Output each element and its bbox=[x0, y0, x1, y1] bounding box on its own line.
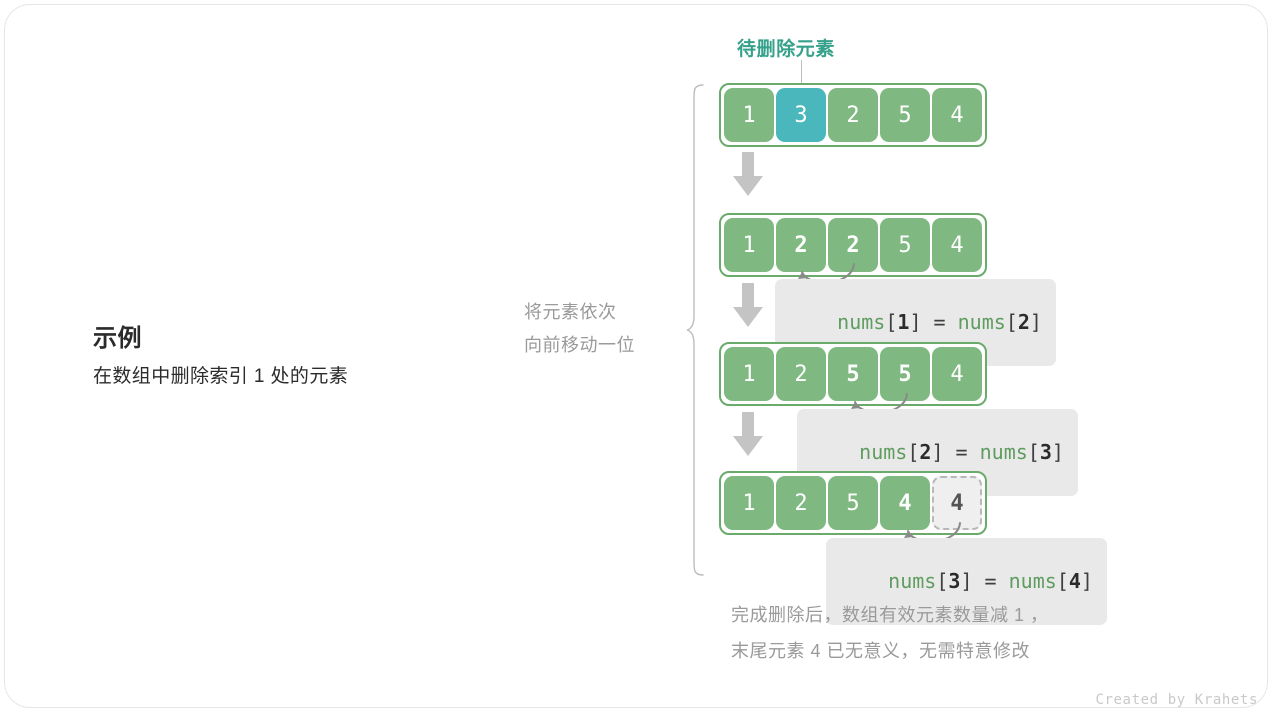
down-arrow-icon-3 bbox=[733, 412, 763, 456]
code-rbracket: ] bbox=[931, 440, 943, 464]
code-lbracket: [ bbox=[1028, 440, 1040, 464]
code-equals: = bbox=[956, 440, 968, 464]
code-lbracket: [ bbox=[885, 310, 897, 334]
code-lbracket: [ bbox=[1057, 569, 1069, 593]
result-caption-line2: 末尾元素 4 已无意义，无需特意修改 bbox=[731, 633, 1201, 669]
array-cell[interactable]: 4 bbox=[932, 88, 982, 142]
array-cell[interactable]: 5 bbox=[880, 88, 930, 142]
result-caption-line1: 完成删除后，数组有效元素数量减 1 ， bbox=[731, 597, 1201, 633]
array-cell[interactable]: 1 bbox=[724, 347, 774, 401]
code-rbracket: ] bbox=[1081, 569, 1093, 593]
array-cell[interactable]: 5 bbox=[828, 476, 878, 530]
example-title: 示例 bbox=[93, 322, 493, 356]
code-name: nums bbox=[859, 440, 907, 464]
code-rbracket: ] bbox=[960, 569, 972, 593]
example-subtitle: 在数组中删除索引 1 处的元素 bbox=[93, 362, 493, 392]
code-lbracket: [ bbox=[907, 440, 919, 464]
shift-annotation-line1: 将元素依次 bbox=[524, 296, 674, 329]
down-arrow-icon-2 bbox=[733, 283, 763, 327]
example-caption: 示例 在数组中删除索引 1 处的元素 bbox=[93, 322, 493, 392]
code-lbracket: [ bbox=[936, 569, 948, 593]
code-src-index: 4 bbox=[1069, 569, 1081, 593]
code-rbracket: ] bbox=[1030, 310, 1042, 334]
array-cell[interactable]: 1 bbox=[724, 476, 774, 530]
code-src-index: 3 bbox=[1040, 440, 1052, 464]
code-dst-index: 3 bbox=[948, 569, 960, 593]
down-arrow-icon-1 bbox=[733, 152, 763, 196]
code-dst-index: 2 bbox=[919, 440, 931, 464]
array-cell[interactable]: 1 bbox=[724, 218, 774, 272]
code-lbracket: [ bbox=[1006, 310, 1018, 334]
code-name: nums bbox=[958, 310, 1006, 334]
code-equals: = bbox=[934, 310, 946, 334]
result-caption: 完成删除后，数组有效元素数量减 1 ， 末尾元素 4 已无意义，无需特意修改 bbox=[731, 597, 1201, 669]
code-name: nums bbox=[888, 569, 936, 593]
array-cell-target[interactable]: 3 bbox=[776, 88, 826, 142]
shift-annotation-line2: 向前移动一位 bbox=[524, 329, 674, 362]
diagram-canvas: 示例 在数组中删除索引 1 处的元素 将元素依次 向前移动一位 待删除元素 1 … bbox=[0, 0, 1280, 720]
code-src-index: 2 bbox=[1018, 310, 1030, 334]
code-equals: = bbox=[985, 569, 997, 593]
code-dst-index: 1 bbox=[897, 310, 909, 334]
code-rbracket: ] bbox=[909, 310, 921, 334]
array-row-1: 1 3 2 5 4 bbox=[719, 83, 987, 147]
shift-annotation: 将元素依次 向前移动一位 bbox=[524, 296, 674, 362]
array-cell[interactable]: 2 bbox=[776, 476, 826, 530]
code-name: nums bbox=[980, 440, 1028, 464]
credit-footer: Created by Krahets bbox=[1095, 692, 1258, 708]
target-element-label: 待删除元素 bbox=[737, 34, 835, 61]
array-cell[interactable]: 2 bbox=[776, 347, 826, 401]
code-name: nums bbox=[837, 310, 885, 334]
code-name: nums bbox=[1009, 569, 1057, 593]
array-cell[interactable]: 4 bbox=[932, 347, 982, 401]
code-rbracket: ] bbox=[1052, 440, 1064, 464]
curly-brace-icon bbox=[686, 84, 704, 576]
array-cell[interactable]: 5 bbox=[880, 218, 930, 272]
array-cell[interactable]: 2 bbox=[828, 88, 878, 142]
array-cell[interactable]: 1 bbox=[724, 88, 774, 142]
array-cell[interactable]: 4 bbox=[932, 218, 982, 272]
